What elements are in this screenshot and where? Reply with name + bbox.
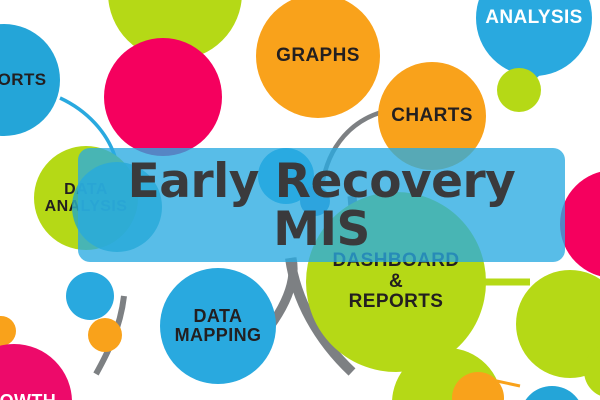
bubble-graphs: GRAPHS: [256, 0, 380, 118]
bubble-pink-right: [560, 170, 600, 278]
poster-canvas: REPORTSGRAPHSCHARTSANALYSISDATAANALYSISD…: [0, 0, 600, 400]
bubble-label: REPORTS: [0, 71, 60, 89]
page-title-line-2: MIS: [273, 202, 370, 257]
bubble-label: GROWTH: [0, 392, 72, 400]
bubble-blue-dot-left: [66, 272, 114, 320]
bubble-orange-sliver-left: [0, 316, 16, 346]
bubble-growth: GROWTH: [0, 344, 72, 400]
bubble-reports: REPORTS: [0, 24, 60, 136]
bubble-lime-dot-right: [497, 68, 541, 112]
bubble-label: GRAPHS: [256, 46, 380, 67]
bubble-orange-dot-left: [88, 318, 122, 352]
bubble-data-mapping: DATAMAPPING: [160, 268, 276, 384]
bubble-label: ANALYSIS: [476, 8, 592, 29]
bubble-label: CHARTS: [378, 106, 486, 127]
page-title: Early Recovery MIS: [78, 150, 565, 262]
bubble-label: DATAMAPPING: [160, 307, 276, 346]
page-title-line-1: Early Recovery: [128, 154, 516, 209]
bubble-pink-top-center: [104, 38, 222, 156]
bubble-blue-bottom-right: [520, 386, 584, 400]
bubble-analysis: ANALYSIS: [476, 0, 592, 76]
